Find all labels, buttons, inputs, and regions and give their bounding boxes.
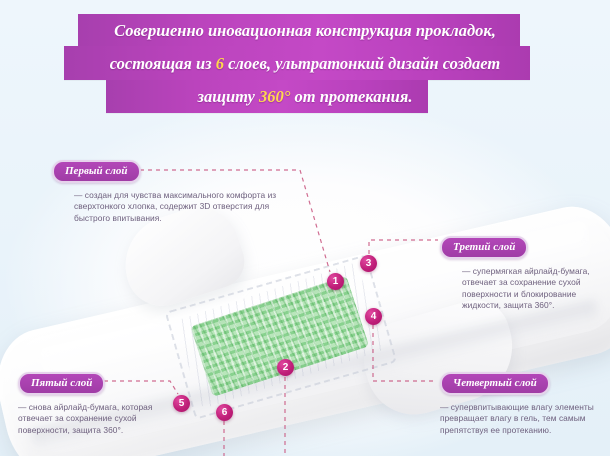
callout-layer-1: Первый слой — создан для чувства максима… [52,160,292,224]
callout-layer-3: Третий слой — супермягкая айрлайд-бумага… [440,236,608,312]
banner-band-top [78,14,520,46]
callout-label-layer-5[interactable]: Пятый слой [18,372,105,395]
callout-layer-4: Четвертый слой — супервпитывающие влагу … [440,372,610,436]
callout-label-layer-4[interactable]: Четвертый слой [440,372,550,395]
infographic-canvas: Совершенно иновационная конструкция прок… [0,0,610,456]
banner-band-bottom [106,80,428,113]
marker-3[interactable]: 3 [360,255,377,272]
callout-label-layer-1[interactable]: Первый слой [52,160,141,183]
callout-text-layer-3: — супермягкая айрлайд-бумага, отвечает з… [440,266,608,312]
marker-6[interactable]: 6 [216,404,233,421]
marker-1[interactable]: 1 [327,273,344,290]
header-banner: Совершенно иновационная конструкция прок… [0,14,610,114]
marker-4[interactable]: 4 [365,308,382,325]
callout-text-layer-5: — снова айрлайд-бумага, которая отвечает… [18,402,178,436]
marker-2[interactable]: 2 [277,359,294,376]
callout-layer-5: Пятый слой — снова айрлайд-бумага, котор… [18,372,178,436]
callout-text-layer-4: — супервпитывающие влагу элементы превра… [440,402,610,436]
banner-band-middle [64,46,530,80]
callout-label-layer-3[interactable]: Третий слой [440,236,528,259]
callout-text-layer-1: — создан для чувства максимального комфо… [52,190,292,224]
